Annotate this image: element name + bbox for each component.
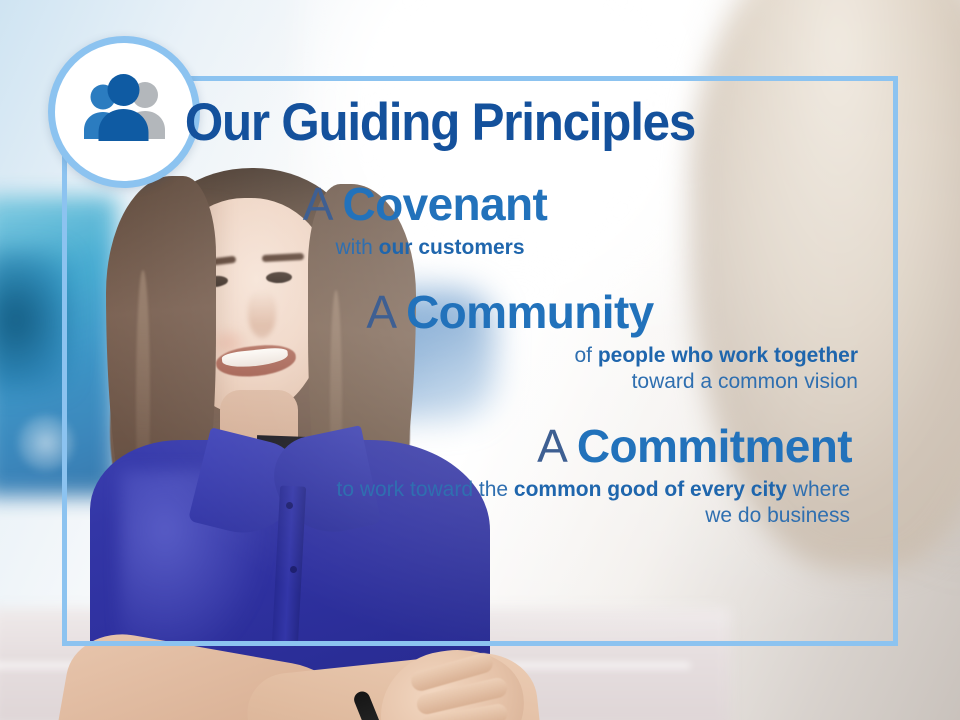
principle-subtext: of people who work together toward a com… (110, 343, 870, 396)
subtext-emphasis: our customers (379, 236, 525, 259)
principle-headline: A Commitment (110, 422, 870, 471)
subtext-emphasis: common good of every city (514, 478, 787, 501)
subtext-emphasis: people who work together (598, 344, 858, 367)
principle-item: A Covenant with our customers (110, 180, 870, 262)
principle-keyword: Commitment (577, 420, 852, 472)
principle-article: A (366, 286, 394, 338)
principle-subtext: with our customers (110, 235, 870, 261)
principle-item: A Commitment to work toward the common g… (110, 422, 870, 530)
subtext-suffix: where (787, 478, 850, 501)
principles-list: A Covenant with our customers A Communit… (110, 180, 870, 530)
subtext-line2: we do business (705, 504, 850, 527)
principle-headline: A Covenant (110, 180, 870, 229)
principle-keyword: Covenant (342, 178, 547, 230)
subtext-prefix: with (335, 236, 378, 259)
principle-subtext: to work toward the common good of every … (110, 477, 870, 530)
page-title: Our Guiding Principles (31, 96, 849, 149)
principle-article: A (537, 420, 565, 472)
principle-item: A Community of people who work together … (110, 288, 870, 396)
subtext-prefix: of (574, 344, 597, 367)
subtext-prefix: to work toward the (336, 478, 513, 501)
blurred-vehicle-emblem (18, 415, 74, 471)
principle-headline: A Community (110, 288, 870, 337)
shirt-button (290, 566, 297, 573)
principle-keyword: Community (406, 286, 654, 338)
subtext-line2: toward a common vision (632, 370, 858, 393)
principle-article: A (303, 178, 331, 230)
blurred-display-shadow (0, 250, 70, 390)
